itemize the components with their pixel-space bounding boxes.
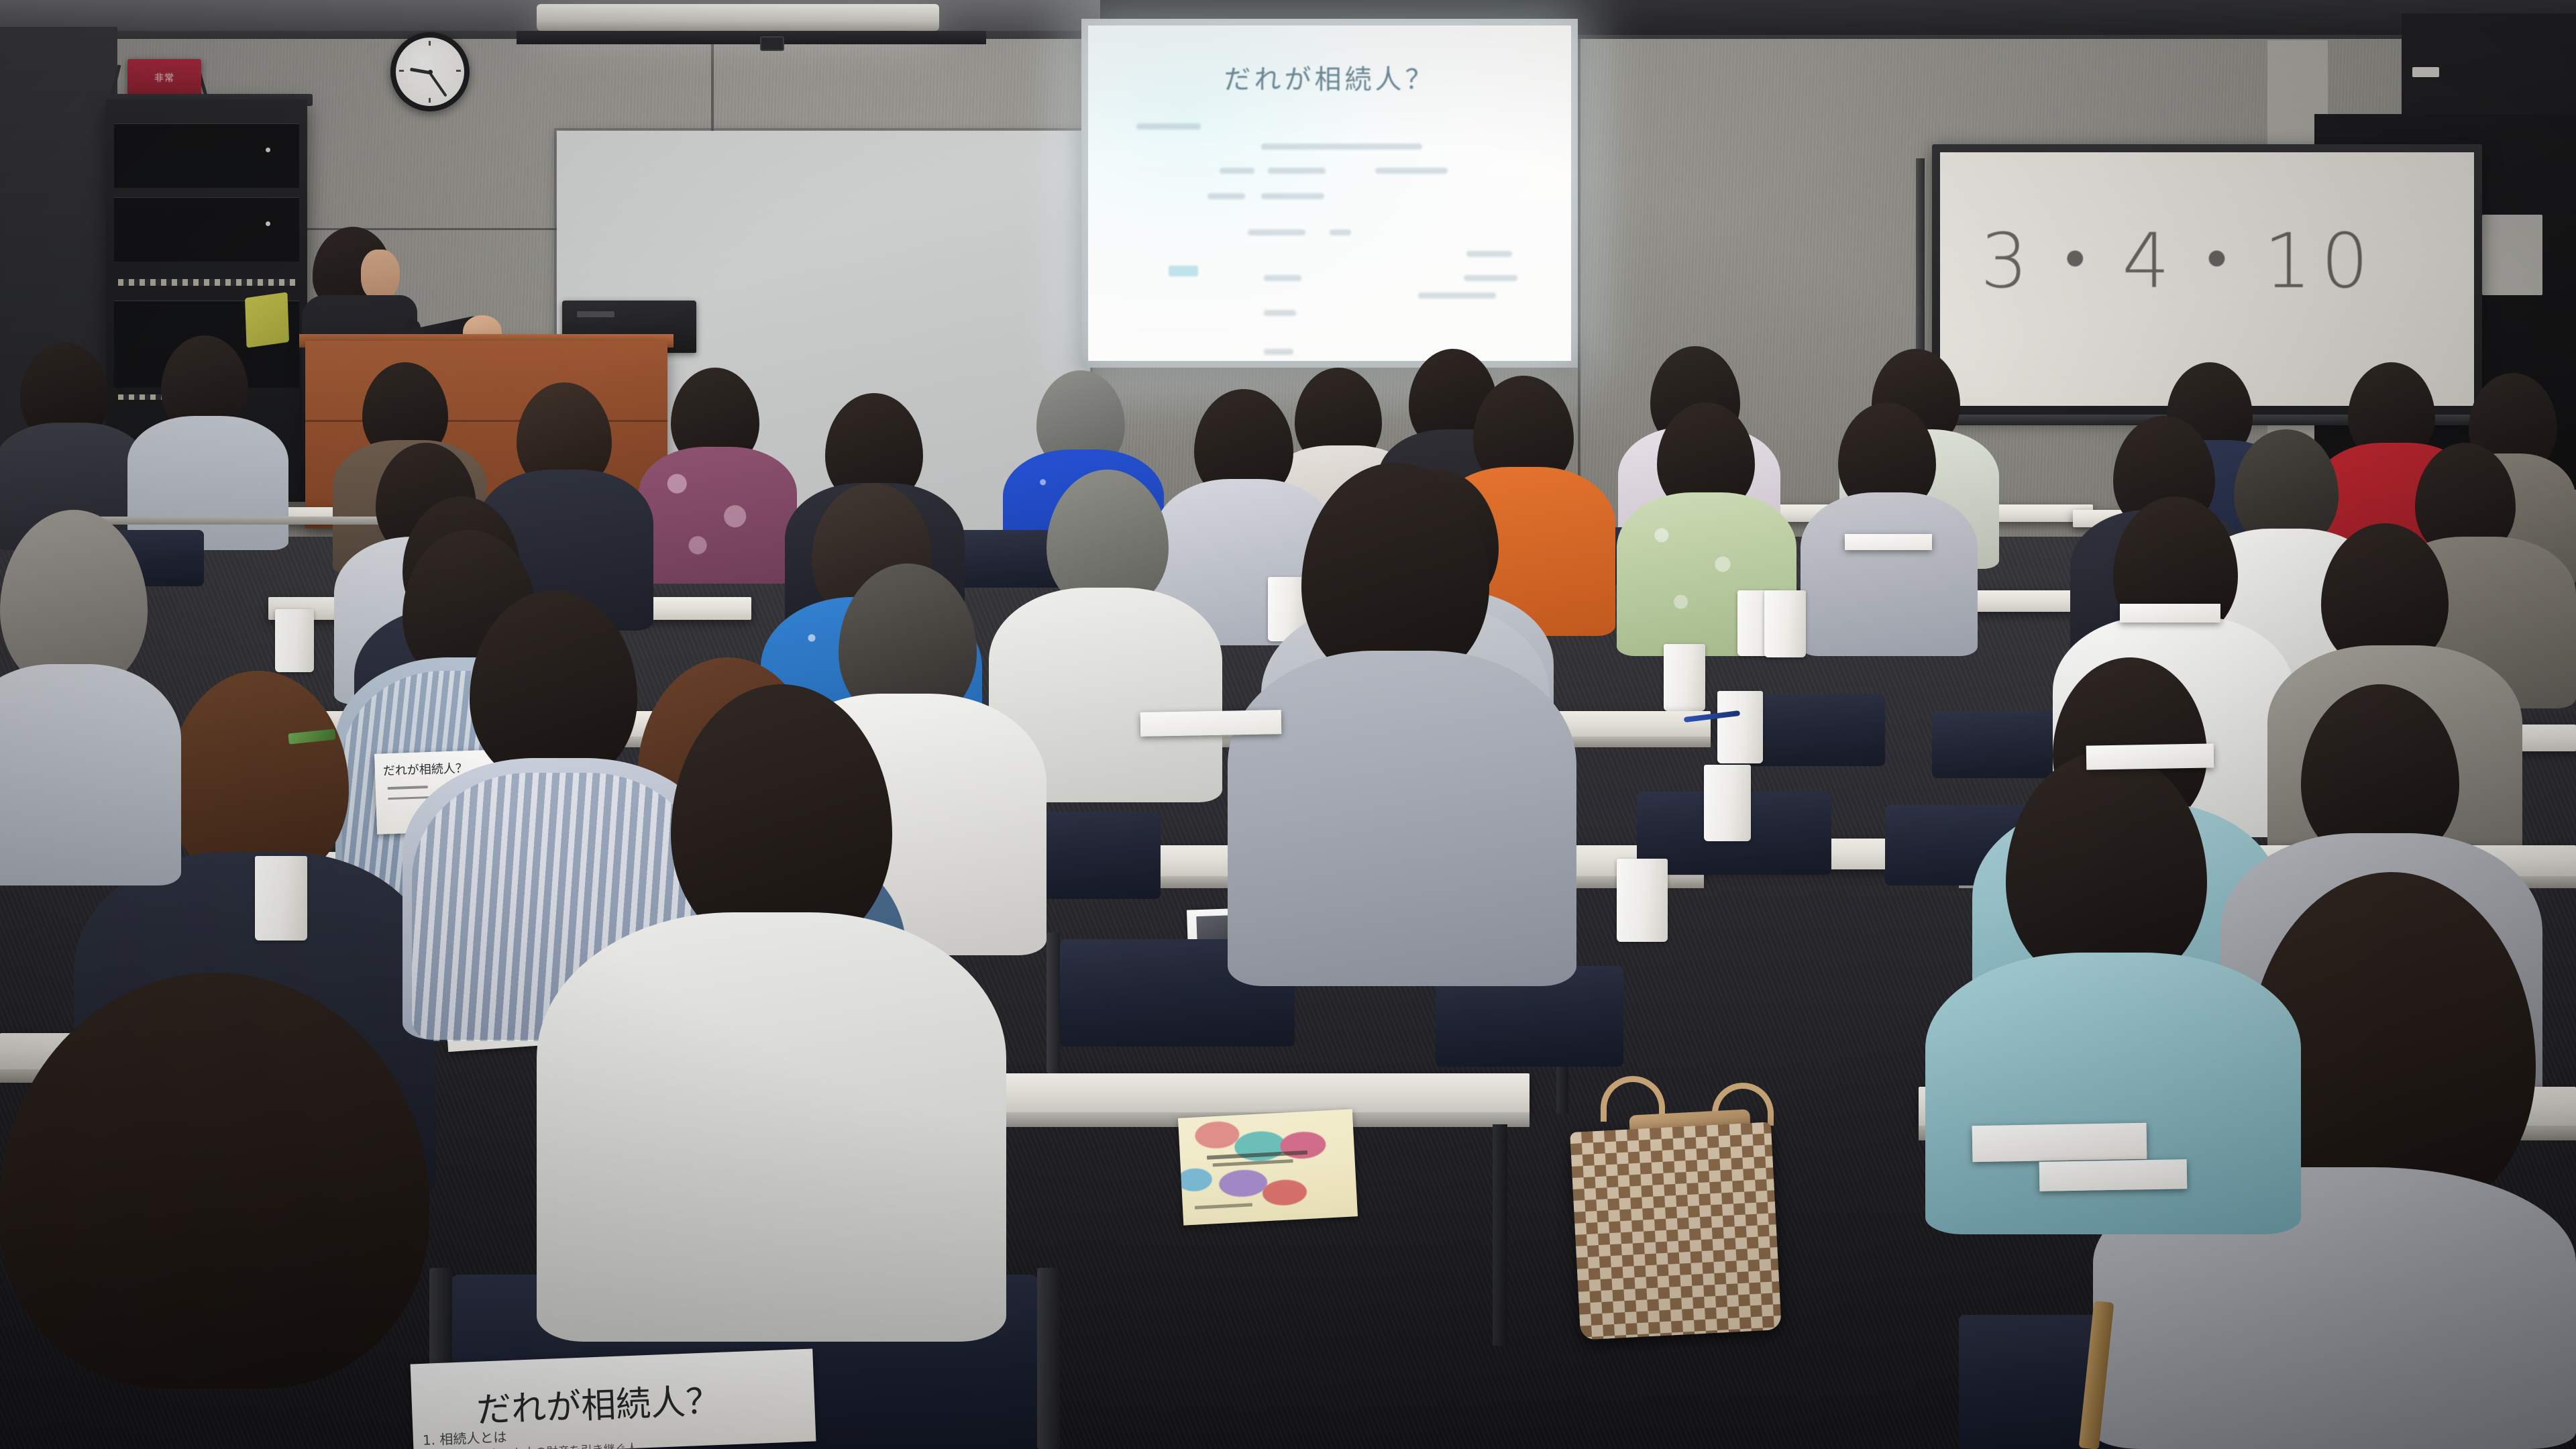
- handout-headline: だれが相続人？: [476, 1373, 722, 1432]
- tote-bag[interactable]: [1570, 1122, 1782, 1340]
- paper-sheet: [2120, 604, 2220, 623]
- attendee-torso: [1228, 651, 1576, 986]
- handout-foreground[interactable]: だれが相続人？ 1. 相続人とは ・亡くなった人の財産を引き継ぐ人: [411, 1349, 816, 1449]
- light-rail: [517, 31, 986, 44]
- slide-text-line: [1375, 168, 1448, 174]
- lecture-room-photo: だれが相続人？ 3・4・10 非常: [0, 0, 2576, 1449]
- paper-cup: [1617, 859, 1668, 942]
- emergency-sign: 非常: [127, 59, 201, 97]
- slide-text-line: [1261, 193, 1324, 199]
- slide-text-line: [1207, 193, 1245, 199]
- slide-text-line: [1466, 251, 1512, 257]
- slide-text-line: [1264, 275, 1301, 281]
- attendee-torso: [1925, 953, 2301, 1234]
- projector-mount-icon: [760, 36, 784, 51]
- slide-text-line: [1136, 123, 1201, 129]
- fluorescent-light: [537, 4, 939, 31]
- paper-sheet: [1140, 710, 1282, 737]
- slide-highlight-chip: [1169, 266, 1198, 276]
- rack-led-strip: [118, 279, 295, 286]
- door-notice-sign: [2482, 215, 2542, 295]
- paper-sheet: [1972, 1123, 2147, 1163]
- slide-text-line: [1330, 229, 1351, 235]
- rack-slot: [114, 123, 299, 188]
- leaflet[interactable]: [1178, 1109, 1358, 1225]
- attendee-torso: [1801, 492, 1978, 656]
- rack-slot: [114, 197, 299, 262]
- slide-text-line: [1264, 310, 1296, 316]
- slide-text-line: [1268, 168, 1326, 174]
- door-room-sign: [2412, 67, 2439, 77]
- emergency-sign-label: 非常: [127, 59, 201, 97]
- paper-cup: [1704, 765, 1751, 841]
- paper-sheet: [2086, 743, 2214, 769]
- paper-sheet: [1845, 534, 1932, 550]
- paper-cup: [255, 856, 307, 941]
- floral-pattern: [649, 453, 788, 574]
- slide-title: だれが相続人？: [1088, 58, 1571, 97]
- slide-text-line: [1248, 229, 1305, 235]
- podium-seam: [305, 420, 667, 422]
- chair-frame: [1037, 1268, 1060, 1449]
- leaflet-bubble: [1178, 1167, 1213, 1192]
- projection-screen: だれが相続人？: [1088, 25, 1571, 361]
- paper-cup: [1717, 691, 1763, 763]
- leaflet-bubble: [1218, 1169, 1268, 1198]
- slide-text-line: [1220, 168, 1254, 174]
- wall-seam-vertical-2: [1578, 39, 1580, 508]
- rack-indicator-icon: [266, 221, 270, 226]
- leaflet-bubble: [1262, 1179, 1307, 1206]
- slide-text-line: [1261, 144, 1422, 150]
- paper-sheet: [2039, 1159, 2188, 1191]
- presenter-face: [361, 250, 400, 301]
- attendee-torso: [0, 664, 181, 885]
- paper-cup: [275, 609, 314, 672]
- paper-cup: [1664, 644, 1705, 711]
- slide-text-line: [1418, 292, 1496, 299]
- leaflet-bubble: [1194, 1120, 1240, 1149]
- handout-headline: だれが相続人？: [382, 759, 468, 779]
- rack-indicator-icon: [266, 148, 270, 152]
- attendee-torso-large: [537, 912, 1006, 1342]
- slide-text-line: [1464, 275, 1517, 281]
- whiteboard-text: 3・4・10: [1980, 201, 2378, 309]
- yellow-tag-marker: [245, 292, 289, 347]
- handout-line: [388, 786, 428, 790]
- slide-text-line: [1264, 349, 1293, 355]
- chair-frame: [1046, 932, 1060, 1073]
- desk-leg: [1493, 1124, 1507, 1346]
- paper-cup: [1764, 590, 1806, 657]
- clock-center-pin: [428, 70, 433, 74]
- leaflet-text-line: [1195, 1203, 1252, 1209]
